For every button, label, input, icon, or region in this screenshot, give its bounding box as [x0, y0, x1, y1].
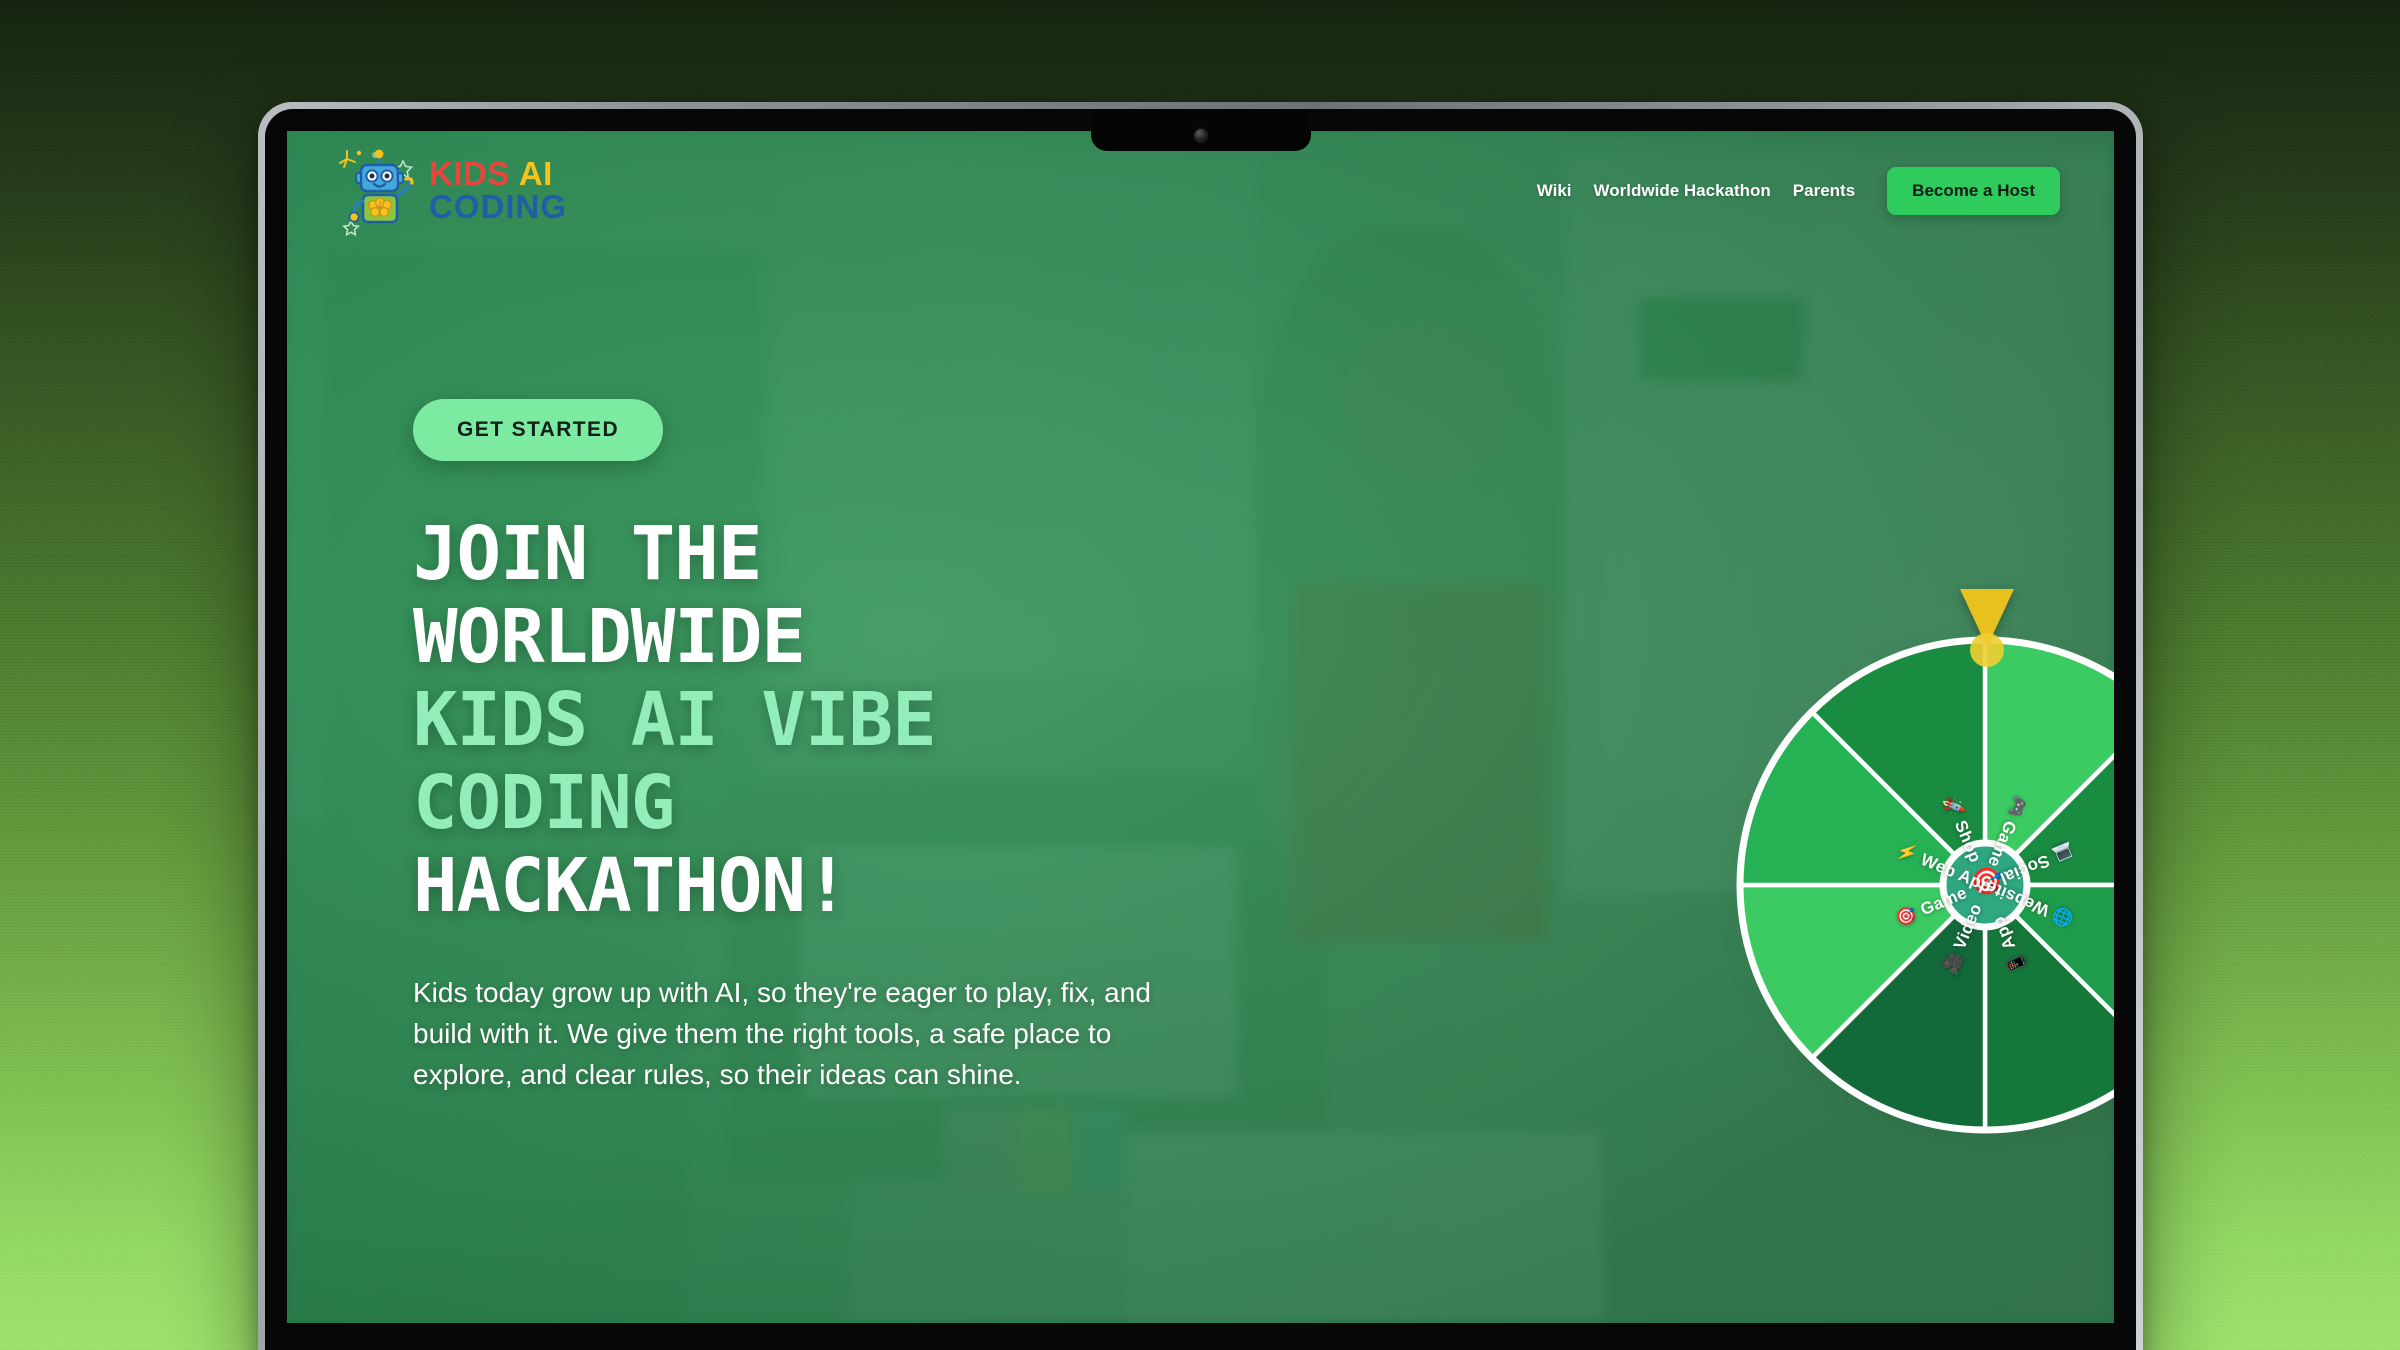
hero-paragraph: Kids today grow up with AI, so they're e…: [413, 973, 1173, 1095]
logo-wordmark: KIDS AI CODING: [429, 159, 567, 222]
spin-wheel-widget[interactable]: 🎯 🎮Game💻Social🌐Website📱App🎥Video🎯Game⚡We…: [1707, 601, 2114, 1161]
become-a-host-button[interactable]: Become a Host: [1887, 167, 2060, 215]
logo-word-ai: AI: [519, 159, 553, 190]
logo-word-kids: KIDS: [429, 159, 510, 190]
site-logo[interactable]: KIDS AI CODING: [337, 145, 567, 237]
site-header: KIDS AI CODING Wiki Worldwide Hackathon …: [287, 131, 2114, 251]
headline-line-4: CODING: [413, 762, 1253, 845]
main-navigation: Wiki Worldwide Hackathon Parents Become …: [1537, 167, 2060, 215]
hero-section: GET STARTED JOIN THE WORLDWIDE KIDS AI V…: [413, 399, 1253, 1095]
headline-line-1: JOIN THE: [413, 513, 1253, 596]
robot-mascot-icon: [337, 145, 423, 237]
get-started-button[interactable]: GET STARTED: [413, 399, 663, 461]
headline-line-3: KIDS AI VIBE: [413, 679, 1253, 762]
wheel-hub[interactable]: [1943, 843, 2027, 927]
headline-line-2: WORLDWIDE: [413, 596, 1253, 679]
laptop-device-frame: KIDS AI CODING Wiki Worldwide Hackathon …: [258, 102, 2143, 1350]
nav-link-worldwide-hackathon[interactable]: Worldwide Hackathon: [1594, 181, 1771, 201]
logo-word-coding: CODING: [429, 192, 567, 223]
nav-link-parents[interactable]: Parents: [1793, 181, 1855, 201]
page-title: JOIN THE WORLDWIDE KIDS AI VIBE CODING H…: [413, 513, 1253, 927]
nav-link-wiki[interactable]: Wiki: [1537, 181, 1572, 201]
laptop-bezel: KIDS AI CODING Wiki Worldwide Hackathon …: [265, 109, 2136, 1350]
wheel-pointer-icon: [1960, 589, 2014, 647]
headline-line-5: HACKATHON!: [413, 845, 1253, 928]
laptop-screen: KIDS AI CODING Wiki Worldwide Hackathon …: [287, 131, 2114, 1323]
wheel-svg[interactable]: [1735, 635, 2114, 1135]
